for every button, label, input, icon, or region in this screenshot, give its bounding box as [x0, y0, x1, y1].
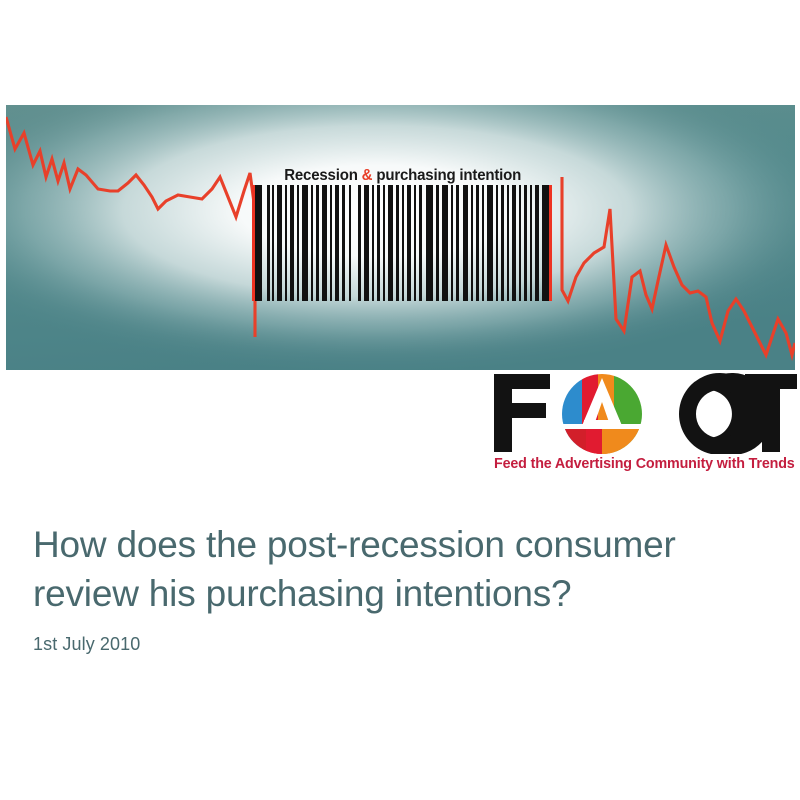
fact-logo: Feed the Advertising Community with Tren…	[492, 372, 797, 476]
fact-tagline: Feed the Advertising Community with Tren…	[494, 455, 797, 474]
barcode-bars	[246, 185, 566, 301]
fact-wordmark	[492, 372, 797, 454]
barcode-bars-svg	[246, 185, 566, 301]
hero-banner: Recession & purchasing intention	[6, 105, 795, 370]
title-slide: Recession & purchasing intention	[0, 0, 800, 800]
fact-letter-f	[494, 374, 550, 452]
title-block: How does the post-recession consumer rev…	[33, 520, 763, 656]
page-title: How does the post-recession consumer rev…	[33, 520, 763, 618]
barcode-caption-suffix: purchasing intention	[372, 167, 521, 184]
barcode-caption-prefix: Recession	[284, 167, 361, 184]
barcode-caption-ampersand: &	[362, 167, 373, 184]
slide-date: 1st July 2010	[33, 632, 763, 656]
barcode-graphic: Recession & purchasing intention	[246, 163, 566, 303]
fact-letter-a-mark	[562, 374, 642, 454]
fact-wordmark-svg	[492, 372, 797, 454]
